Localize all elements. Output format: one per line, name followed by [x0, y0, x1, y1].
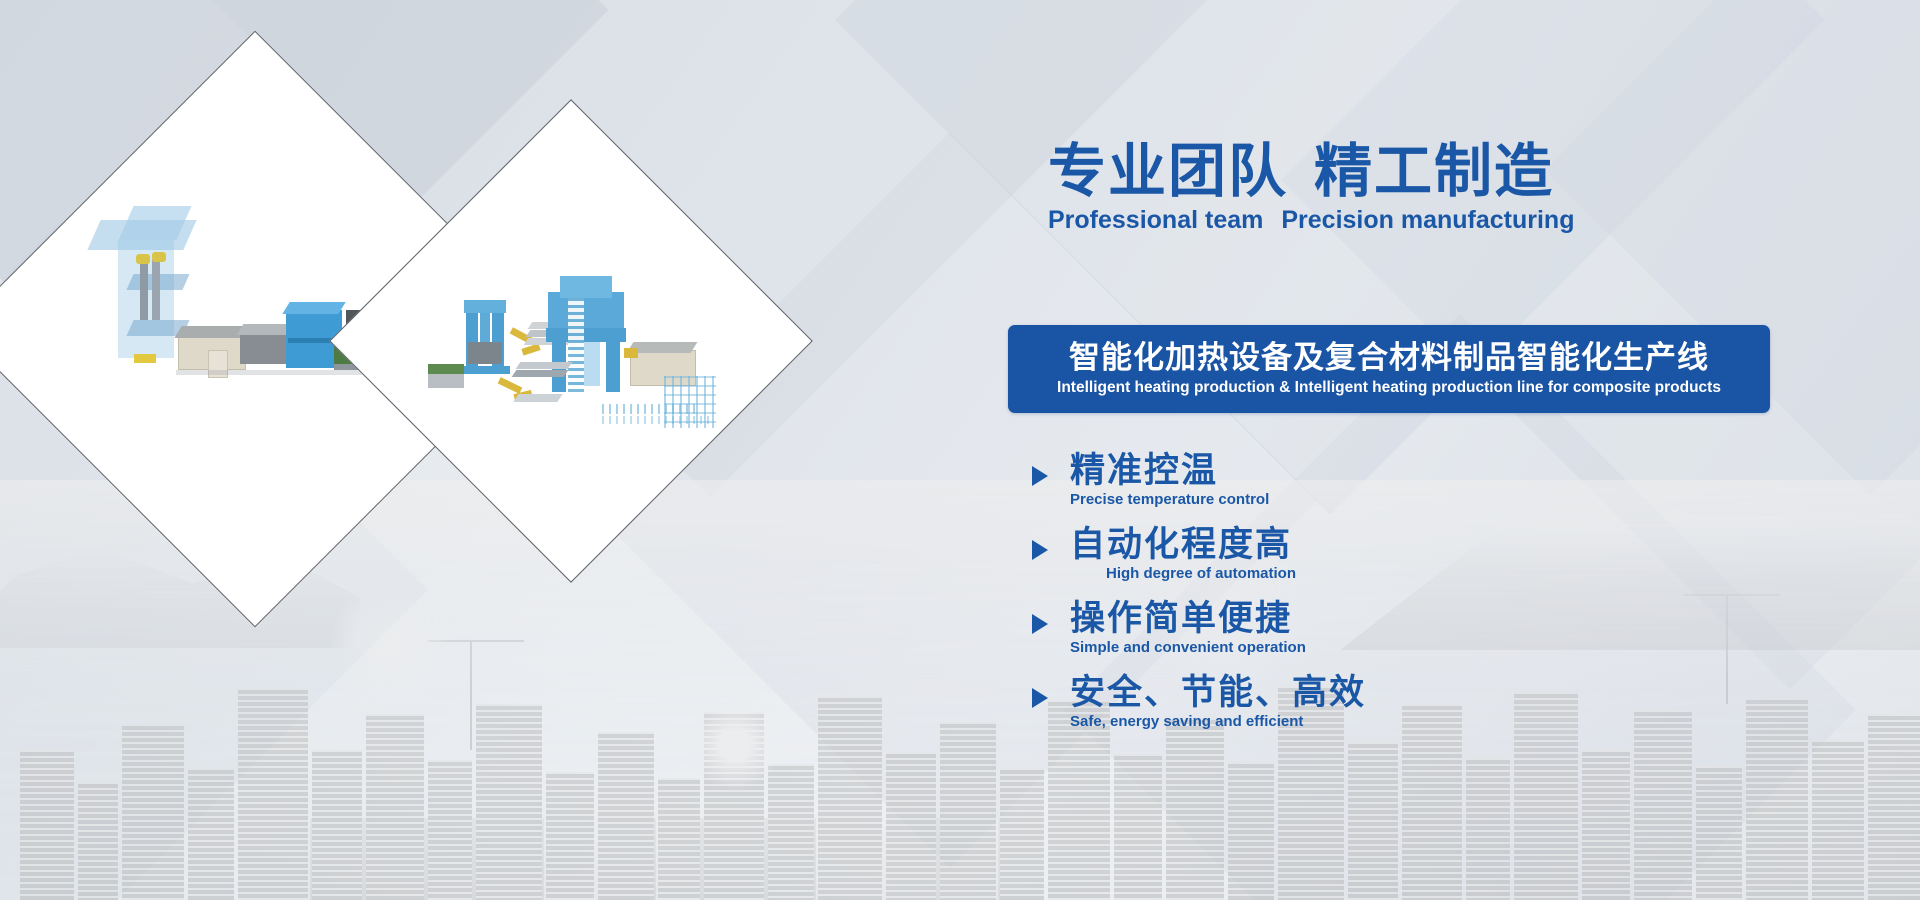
- feature-chinese: 操作简单便捷: [1070, 600, 1366, 640]
- feature-english: Safe, energy saving and efficient: [1070, 713, 1366, 730]
- headline-cn-right: 精工制造: [1314, 137, 1554, 205]
- feature-chinese: 精准控温: [1070, 452, 1366, 492]
- headline-en-right: Precision manufacturing: [1281, 206, 1574, 234]
- product-name-english: Intelligent heating production & Intelli…: [1057, 379, 1721, 397]
- feature-english: Precise temperature control: [1070, 491, 1366, 508]
- feature-chinese: 自动化程度高: [1070, 526, 1366, 566]
- triangle-right-icon: [1032, 614, 1048, 634]
- feature-english: Simple and convenient operation: [1070, 639, 1366, 656]
- triangle-right-icon: [1032, 688, 1048, 708]
- triangle-right-icon: [1032, 466, 1048, 486]
- headline-en-left: Professional team: [1048, 206, 1263, 234]
- production-line-render-2: [426, 236, 716, 446]
- feature-chinese: 安全、节能、高效: [1070, 674, 1366, 714]
- headline-cn-left: 专业团队: [1048, 137, 1288, 205]
- feature-item: 自动化程度高 High degree of automation: [1018, 526, 1366, 582]
- feature-item: 精准控温 Precise temperature control: [1018, 452, 1366, 508]
- product-name-banner: 智能化加热设备及复合材料制品智能化生产线 Intelligent heating…: [1008, 325, 1770, 413]
- headline-chinese: 专业团队精工制造: [1048, 142, 1574, 200]
- headline-english: Professional teamPrecision manufacturing: [1048, 206, 1574, 235]
- headline-block: 专业团队精工制造 Professional teamPrecision manu…: [1048, 142, 1574, 235]
- feature-item: 安全、节能、高效 Safe, energy saving and efficie…: [1018, 674, 1366, 730]
- feature-list: 精准控温 Precise temperature control 自动化程度高 …: [1018, 452, 1366, 748]
- feature-english: High degree of automation: [1106, 565, 1366, 582]
- content-column: 专业团队精工制造 Professional teamPrecision manu…: [1008, 0, 1798, 900]
- triangle-right-icon: [1032, 540, 1048, 560]
- promotional-banner: 专业团队精工制造 Professional teamPrecision manu…: [0, 0, 1920, 900]
- product-name-chinese: 智能化加热设备及复合材料制品智能化生产线: [1069, 341, 1709, 375]
- feature-item: 操作简单便捷 Simple and convenient operation: [1018, 600, 1366, 656]
